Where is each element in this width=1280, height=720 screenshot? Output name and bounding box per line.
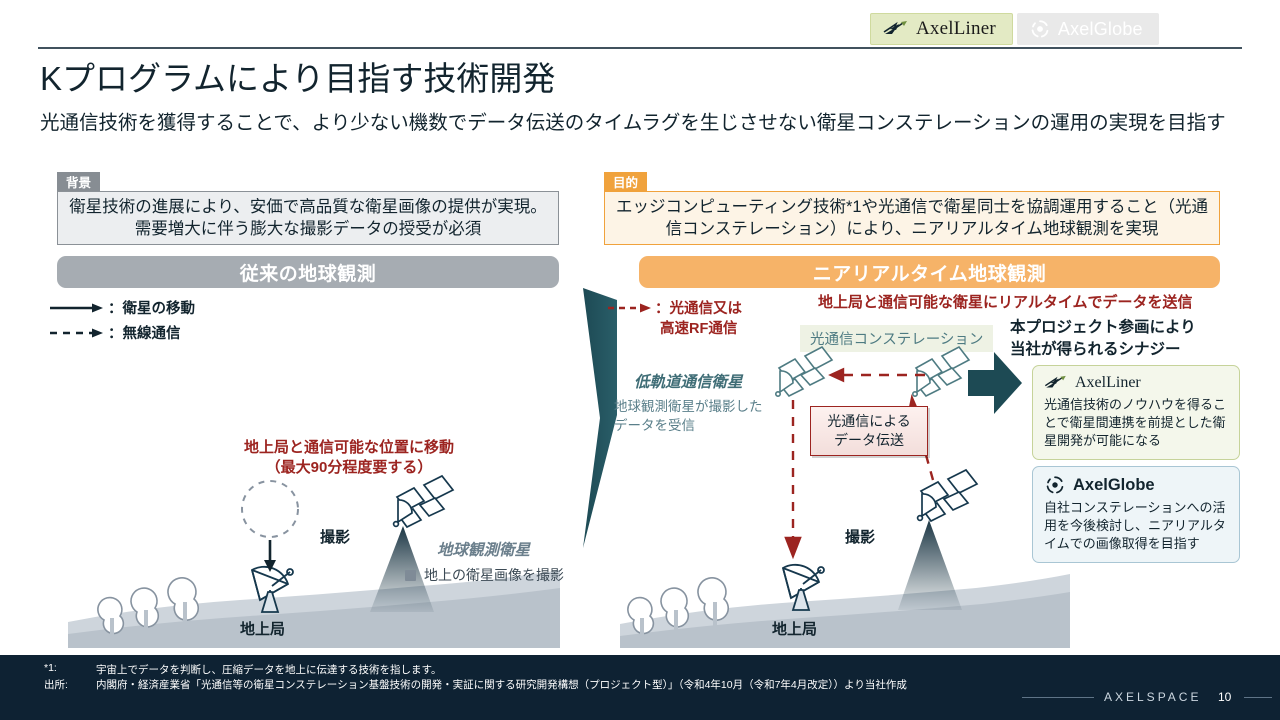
slide-root: AxelLiner AxelGlobe Kプログラムにより目指す技術開発 光通信… [0,0,1280,720]
card-head-axelglobe: AxelGlobe [1044,475,1229,495]
axelglobe-logo-icon [1044,475,1066,495]
card-name-axelglobe: AxelGlobe [1073,476,1155,495]
synergy-card-axelglobe[interactable]: AxelGlobe 自社コンステレーションへの活用を今後検討し、ニアリアルタイム… [1032,466,1240,563]
card-body-axelliner: 光通信技術のノウハウを得ることで衛星間連携を前提とした衛星開発が可能になる [1044,396,1229,450]
footer-rule-left [1022,697,1094,698]
card-body-axelglobe: 自社コンステレーションへの活用を今後検討し、ニアリアルタイムでの画像取得を目指す [1044,499,1229,553]
footnote2-text: 内閣府・経済産業省「光通信等の衛星コンステレーション基盤技術の開発・実証に関する… [96,677,907,692]
footer-brand: AXELSPACE [1104,690,1201,704]
synergy-pointer-arrow [0,0,1280,720]
card-name-axelliner: AxelLiner [1075,374,1141,392]
footnote1-key: *1: [44,662,57,674]
footnote2-key: 出所: [44,677,68,692]
footnote1-text: 宇宙上でデータを判断し、圧縮データを地上に伝達する技術を指します。 [96,662,441,677]
synergy-card-axelliner[interactable]: AxelLiner 光通信技術のノウハウを得ることで衛星間連携を前提とした衛星開… [1032,365,1240,460]
axelliner-logo-icon [1044,375,1068,391]
footer-rule-right [1244,697,1272,698]
card-head-axelliner: AxelLiner [1044,374,1229,392]
footer-page-number: 10 [1218,690,1231,704]
